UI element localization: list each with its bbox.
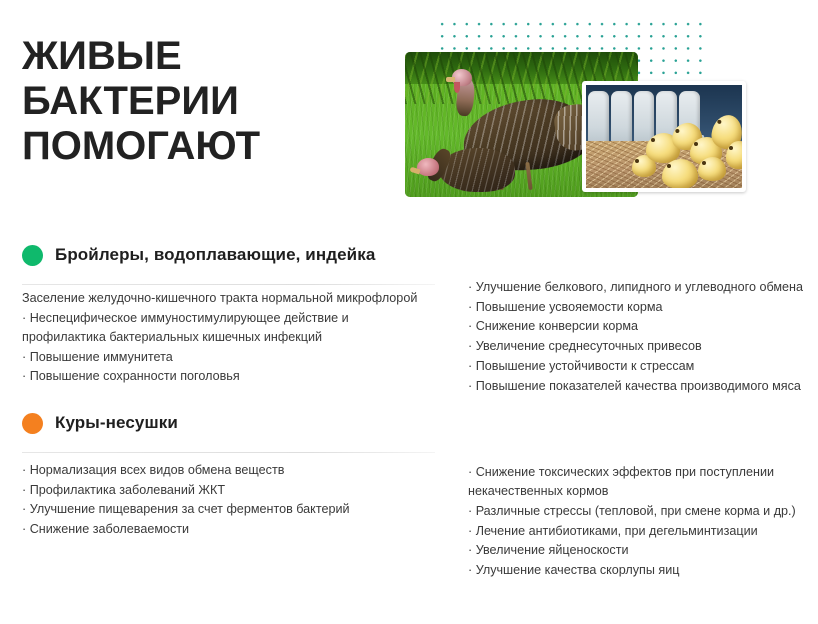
chick [698, 157, 726, 181]
list-item: · Снижение токсических эффектов при пост… [468, 463, 808, 501]
list-item: · Улучшение пищеварения за счет ферменто… [22, 500, 443, 519]
section-laying-hens-columns: · Нормализация всех видов обмена веществ… [0, 440, 818, 581]
hens-left-list: · Нормализация всех видов обмена веществ… [22, 461, 443, 539]
list-item: · Повышение усвояемости корма [468, 298, 808, 317]
section-laying-hens: Куры-несушки · Нормализация всех видов о… [0, 406, 818, 581]
broilers-right-list: · Улучшение белкового, липидного и углев… [468, 278, 808, 396]
hens-right-list: · Снижение токсических эффектов при пост… [468, 463, 808, 580]
section-broilers-header: Бройлеры, водоплавающие, индейка [0, 238, 818, 272]
section-broilers-left-column: Заселение желудочно-кишечного тракта нор… [0, 289, 455, 396]
page-title: ЖИВЫЕ БАКТЕРИИ ПОМОГАЮТ [22, 34, 402, 169]
second-turkey-head [417, 158, 439, 176]
chicks-photo [582, 81, 746, 192]
list-item: · Нормализация всех видов обмена веществ [22, 461, 443, 480]
list-item: · Улучшение качества скорлупы яиц [468, 561, 808, 580]
list-item: · Профилактика заболеваний ЖКТ [22, 481, 443, 500]
hero-section: ЖИВЫЕ БАКТЕРИИ ПОМОГАЮТ [0, 0, 818, 215]
list-item: · Увеличение яйценоскости [468, 541, 808, 560]
section-laying-hens-title: Куры-несушки [55, 413, 178, 433]
green-dot-icon [22, 245, 43, 266]
list-item: · Различные стрессы (тепловой, при смене… [468, 502, 808, 521]
list-item: · Неспецифическое иммуностимулирующее де… [22, 309, 443, 347]
turkey-wattle [454, 82, 460, 93]
list-item: · Повышение показателей качества произво… [468, 377, 808, 396]
section-broilers-divider [22, 284, 435, 285]
section-laying-hens-header: Куры-несушки [0, 406, 818, 440]
section-broilers-title: Бройлеры, водоплавающие, индейка [55, 245, 375, 265]
chick [662, 159, 698, 188]
list-item: Заселение желудочно-кишечного тракта нор… [22, 289, 443, 308]
broilers-left-list: Заселение желудочно-кишечного тракта нор… [22, 289, 443, 387]
section-laying-hens-right-column: · Снижение токсических эффектов при пост… [455, 461, 818, 581]
orange-dot-icon [22, 413, 43, 434]
slide-root: ЖИВЫЕ БАКТЕРИИ ПОМОГАЮТ [0, 0, 818, 624]
list-item: · Улучшение белкового, липидного и углев… [468, 278, 808, 297]
list-item: · Снижение заболеваемости [22, 520, 443, 539]
chicks-photo-inner [586, 85, 742, 188]
section-laying-hens-divider [22, 452, 435, 453]
list-item: · Лечение антибиотиками, при дегельминти… [468, 522, 808, 541]
list-item: · Снижение конверсии корма [468, 317, 808, 336]
list-item: · Повышение устойчивости к стрессам [468, 357, 808, 376]
section-broilers: Бройлеры, водоплавающие, индейка Заселен… [0, 238, 818, 396]
list-item: · Повышение сохранности поголовья [22, 367, 443, 386]
list-item: · Повышение иммунитета [22, 348, 443, 367]
section-laying-hens-left-column: · Нормализация всех видов обмена веществ… [0, 461, 455, 581]
list-item: · Увеличение среднесуточных привесов [468, 337, 808, 356]
section-broilers-columns: Заселение желудочно-кишечного тракта нор… [0, 272, 818, 396]
section-broilers-right-column: · Улучшение белкового, липидного и углев… [455, 289, 818, 396]
